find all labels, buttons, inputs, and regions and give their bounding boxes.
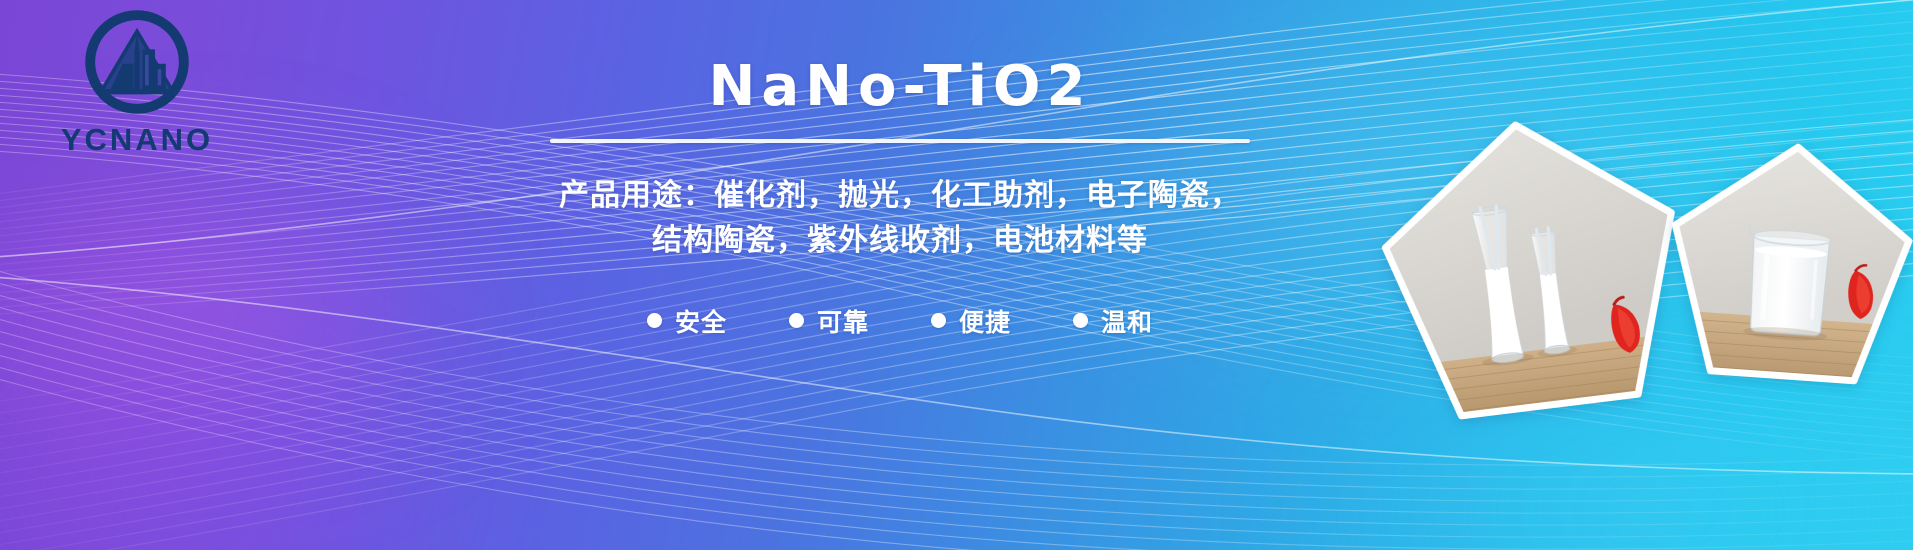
- brand-logo[interactable]: YCNANO: [32, 8, 242, 158]
- feature-list: 安全 可靠 便捷 温和: [480, 303, 1320, 339]
- purple-glow-left: [0, 150, 500, 480]
- bullet-dot-icon: [931, 313, 946, 328]
- bullet-dot-icon: [1073, 313, 1088, 328]
- usage-line-2: 结构陶瓷，紫外线收剂，电池材料等: [480, 218, 1320, 263]
- product-image-beaker[interactable]: [1660, 134, 1913, 394]
- bullet-dot-icon: [647, 313, 662, 328]
- usage-line-1: 产品用途：催化剂，抛光，化工助剂，电子陶瓷，: [480, 173, 1320, 218]
- feature-item-reliable: 可靠: [789, 303, 869, 339]
- feature-label: 安全: [675, 303, 727, 339]
- product-banner: YCNANO NaNo-TiO2 产品用途：催化剂，抛光，化工助剂，电子陶瓷， …: [0, 0, 1913, 550]
- product-usage-text: 产品用途：催化剂，抛光，化工助剂，电子陶瓷， 结构陶瓷，紫外线收剂，电池材料等: [480, 173, 1320, 263]
- feature-label: 便捷: [959, 303, 1011, 339]
- feature-item-safe: 安全: [647, 303, 727, 339]
- feature-item-mild: 温和: [1073, 303, 1153, 339]
- title-divider: [550, 139, 1250, 143]
- brand-wordmark: YCNANO: [32, 122, 242, 158]
- feature-label: 温和: [1101, 303, 1153, 339]
- hero-copy: NaNo-TiO2 产品用途：催化剂，抛光，化工助剂，电子陶瓷， 结构陶瓷，紫外…: [480, 58, 1320, 339]
- bullet-dot-icon: [789, 313, 804, 328]
- purple-glow-lower-left: [0, 330, 460, 550]
- product-image-vases[interactable]: [1366, 101, 1700, 435]
- feature-item-convenient: 便捷: [931, 303, 1011, 339]
- page-title: NaNo-TiO2: [480, 58, 1320, 117]
- beaker-photo: [1660, 134, 1913, 394]
- vases-photo: [1366, 101, 1700, 435]
- ycnano-triangle-circle-logo-icon: [83, 8, 191, 116]
- feature-label: 可靠: [817, 303, 869, 339]
